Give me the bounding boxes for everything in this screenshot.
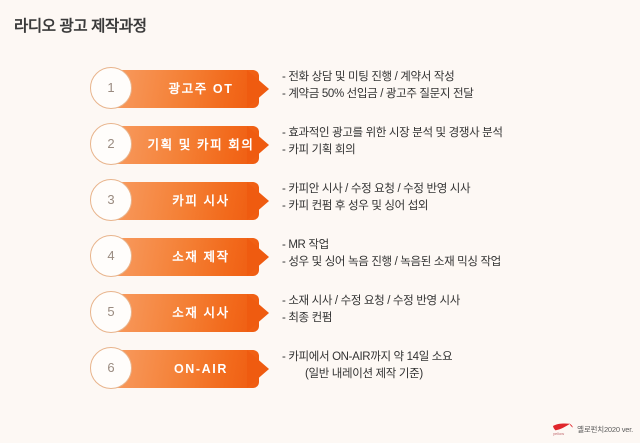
step-number-1: 1 <box>90 67 132 109</box>
step-description-3: - 카피안 시사 / 수정 요청 / 수정 반영 시사 - 카피 컨펌 후 성우… <box>282 181 632 215</box>
step-label-2: 기획 및 카피 회의 <box>141 126 261 164</box>
step-description-line: - MR 작업 <box>282 237 632 254</box>
step-description-line: - 계약금 50% 선입금 / 광고주 질문지 전달 <box>282 86 632 103</box>
process-steps-list: 광고주 OT 1 - 전화 상담 및 미팅 진행 / 계약서 작성 - 계약금 … <box>0 66 640 402</box>
step-number-5: 5 <box>90 291 132 333</box>
step-description-5: - 소재 시사 / 수정 요청 / 수정 반영 시사 - 최종 컨펌 <box>282 293 632 327</box>
yellow-punch-swoosh-icon: yellow <box>552 422 574 436</box>
process-step-3[interactable]: 카피 시사 3 - 카피안 시사 / 수정 요청 / 수정 반영 시사 - 카피… <box>0 178 640 234</box>
page-title: 라디오 광고 제작과정 <box>14 14 147 36</box>
step-description-line: - 카피 컨펌 후 성우 및 싱어 섭외 <box>282 198 632 215</box>
step-description-line: - 소재 시사 / 수정 요청 / 수정 반영 시사 <box>282 293 632 310</box>
svg-text:yellow: yellow <box>553 431 564 436</box>
step-description-line: - 성우 및 싱어 녹음 진행 / 녹음된 소재 믹싱 작업 <box>282 254 632 271</box>
step-description-line: - 카피안 시사 / 수정 요청 / 수정 반영 시사 <box>282 181 632 198</box>
step-banner-4[interactable]: 소재 제작 4 <box>95 238 280 276</box>
footer-brand-text: 옐로펀치2020 ver. <box>577 424 633 435</box>
step-description-4: - MR 작업 - 성우 및 싱어 녹음 진행 / 녹음된 소재 믹싱 작업 <box>282 237 632 271</box>
step-label-3: 카피 시사 <box>141 182 261 220</box>
step-description-line: - 카피 기획 회의 <box>282 142 632 159</box>
step-banner-6[interactable]: ON-AIR 6 <box>95 350 280 388</box>
step-banner-5[interactable]: 소재 시사 5 <box>95 294 280 332</box>
step-number-4: 4 <box>90 235 132 277</box>
step-description-line: - 최종 컨펌 <box>282 310 632 327</box>
step-description-1: - 전화 상담 및 미팅 진행 / 계약서 작성 - 계약금 50% 선입금 /… <box>282 69 632 103</box>
step-label-5: 소재 시사 <box>141 294 261 332</box>
step-description-line: - 효과적인 광고를 위한 시장 분석 및 경쟁사 분석 <box>282 125 632 142</box>
step-banner-2[interactable]: 기획 및 카피 회의 2 <box>95 126 280 164</box>
step-description-line: (일반 내레이션 제작 기준) <box>282 366 632 383</box>
process-step-2[interactable]: 기획 및 카피 회의 2 - 효과적인 광고를 위한 시장 분석 및 경쟁사 분… <box>0 122 640 178</box>
step-number-6: 6 <box>90 347 132 389</box>
step-label-6: ON-AIR <box>141 350 261 388</box>
step-banner-3[interactable]: 카피 시사 3 <box>95 182 280 220</box>
step-label-1: 광고주 OT <box>141 70 261 108</box>
process-step-1[interactable]: 광고주 OT 1 - 전화 상담 및 미팅 진행 / 계약서 작성 - 계약금 … <box>0 66 640 122</box>
step-description-2: - 효과적인 광고를 위한 시장 분석 및 경쟁사 분석 - 카피 기획 회의 <box>282 125 632 159</box>
step-description-line: - 카피에서 ON-AIR까지 약 14일 소요 <box>282 349 632 366</box>
step-label-4: 소재 제작 <box>141 238 261 276</box>
process-step-6[interactable]: ON-AIR 6 - 카피에서 ON-AIR까지 약 14일 소요 (일반 내레… <box>0 346 640 402</box>
process-step-5[interactable]: 소재 시사 5 - 소재 시사 / 수정 요청 / 수정 반영 시사 - 최종 … <box>0 290 640 346</box>
process-step-4[interactable]: 소재 제작 4 - MR 작업 - 성우 및 싱어 녹음 진행 / 녹음된 소재… <box>0 234 640 290</box>
step-description-6: - 카피에서 ON-AIR까지 약 14일 소요 (일반 내레이션 제작 기준) <box>282 349 632 383</box>
footer-brand: yellow 옐로펀치2020 ver. <box>552 422 633 436</box>
step-number-3: 3 <box>90 179 132 221</box>
step-banner-1[interactable]: 광고주 OT 1 <box>95 70 280 108</box>
step-description-line: - 전화 상담 및 미팅 진행 / 계약서 작성 <box>282 69 632 86</box>
step-number-2: 2 <box>90 123 132 165</box>
